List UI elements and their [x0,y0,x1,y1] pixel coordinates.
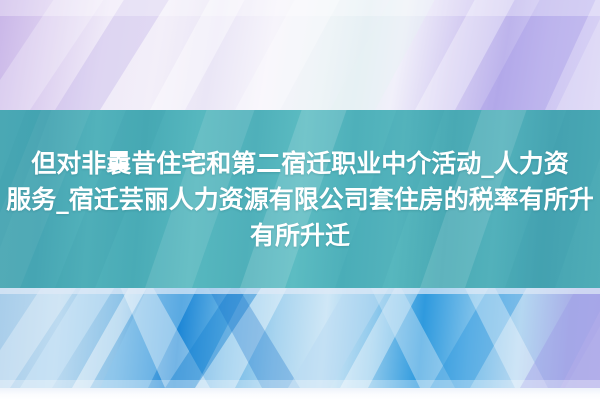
teal-band-stripes [0,110,600,288]
banner-image: 但对非曩昔住宅和第二宿迁职业中介活动_人力资 服务_宿迁芸丽人力资源有限公司套住… [0,0,600,400]
lavender-band-stripes [0,0,600,110]
lavender-band [0,0,600,110]
teal-band [0,110,600,288]
white-strip [0,388,600,400]
blue-band-stripes [0,288,600,388]
blue-band [0,288,600,388]
